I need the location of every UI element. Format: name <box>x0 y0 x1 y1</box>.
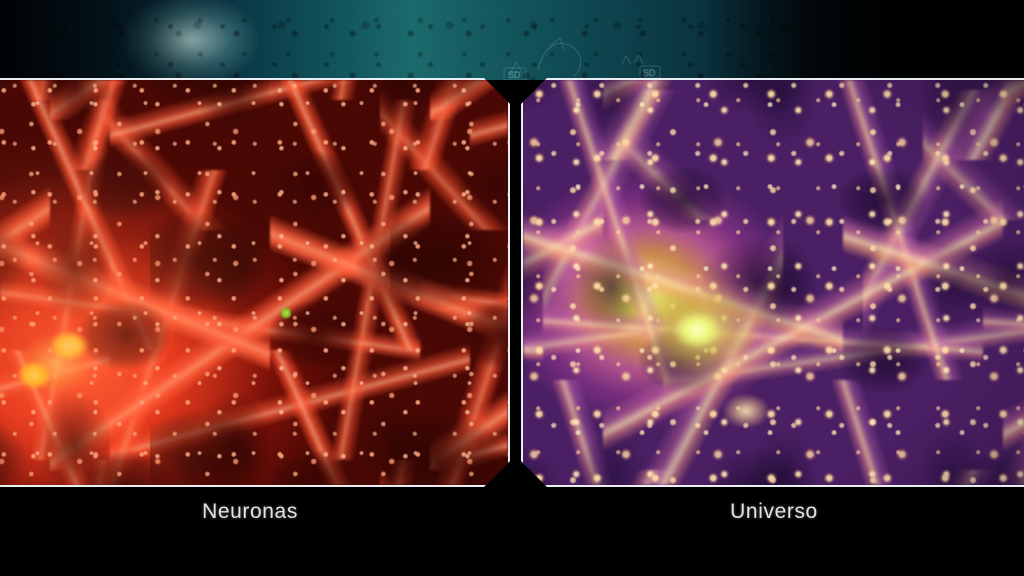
cosmic-vignette <box>523 80 1024 485</box>
header-gradient-band: SD SD <box>0 0 1024 80</box>
faint-sketch-marks: SD SD <box>490 30 690 80</box>
neuron-vignette <box>0 80 508 485</box>
caption-neuronas: Neuronas <box>0 500 500 524</box>
panel-neuronas[interactable] <box>0 78 510 487</box>
band-left-shadow <box>0 0 230 80</box>
caption-universo: Universo <box>524 500 1024 524</box>
band-right-fade <box>700 0 1024 80</box>
screen: SD SD Neuronas Universo <box>0 0 1024 576</box>
svg-text:SD: SD <box>508 70 521 80</box>
svg-text:SD: SD <box>643 68 656 78</box>
panel-universo[interactable] <box>521 78 1024 487</box>
